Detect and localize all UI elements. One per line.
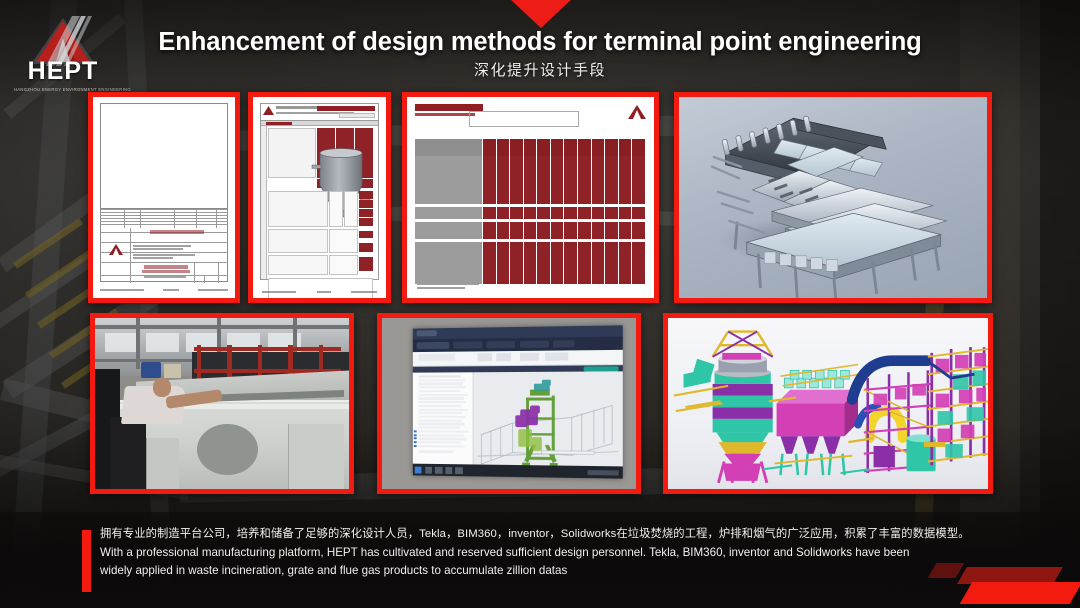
caption-english-line1: With a professional manufacturing platfo… <box>100 544 1000 563</box>
card-grate-cad-assembly[interactable] <box>674 92 992 303</box>
bim-model-tree[interactable] <box>413 372 474 464</box>
title-chinese: 深化提升设计手段 <box>120 59 960 80</box>
logo-wordmark: HEPT <box>14 59 112 84</box>
hept-logo: HEPT HANGZHOU ENERGY ENVIRONMENT ENGINEE… <box>14 16 112 92</box>
windows-taskbar[interactable] <box>413 464 623 479</box>
corner-decor <box>920 546 1080 608</box>
slide-root: HEPT HANGZHOU ENERGY ENVIRONMENT ENGINEE… <box>0 0 1080 608</box>
caption-chinese: 拥有专业的制造平台公司，培养和储备了足够的深化设计人员，Tekla，BIM360… <box>100 526 1000 544</box>
card-workshop-fabrication-photo[interactable] <box>90 313 354 494</box>
title-english: Enhancement of design methods for termin… <box>120 28 960 57</box>
spreadsheet-block-b <box>415 207 646 220</box>
drawing-logo-icon <box>108 243 124 256</box>
spreadsheet-block-c <box>415 222 646 239</box>
page-title: Enhancement of design methods for termin… <box>120 28 960 80</box>
tekla-model-geometry <box>668 318 988 489</box>
caption-bar: 拥有专业的制造平台公司，培养和储备了足够的深化设计人员，Tekla，BIM360… <box>0 512 1080 608</box>
card-calculation-spreadsheet[interactable] <box>402 92 659 303</box>
worker-figure <box>153 378 171 397</box>
caption-accent-bar <box>82 530 91 592</box>
spreadsheet-logo-icon <box>628 105 646 120</box>
card-tekla-plant-model[interactable] <box>663 313 993 494</box>
monitor-screen <box>413 325 623 479</box>
card-equipment-datasheet[interactable] <box>248 92 391 303</box>
spreadsheet-block-a <box>415 156 646 204</box>
grate-assembly-drawing <box>679 97 987 298</box>
bim-3d-viewport[interactable] <box>474 371 623 466</box>
caption-english-line2: widely applied in waste incineration, gr… <box>100 562 1000 581</box>
card-engineering-drawing-titleblock[interactable] <box>88 92 240 303</box>
datasheet-logo-icon <box>263 106 274 116</box>
spreadsheet-block-d <box>415 242 646 284</box>
card-bim360-viewer-screen[interactable] <box>377 313 641 494</box>
bim-toolbar[interactable] <box>541 449 595 454</box>
